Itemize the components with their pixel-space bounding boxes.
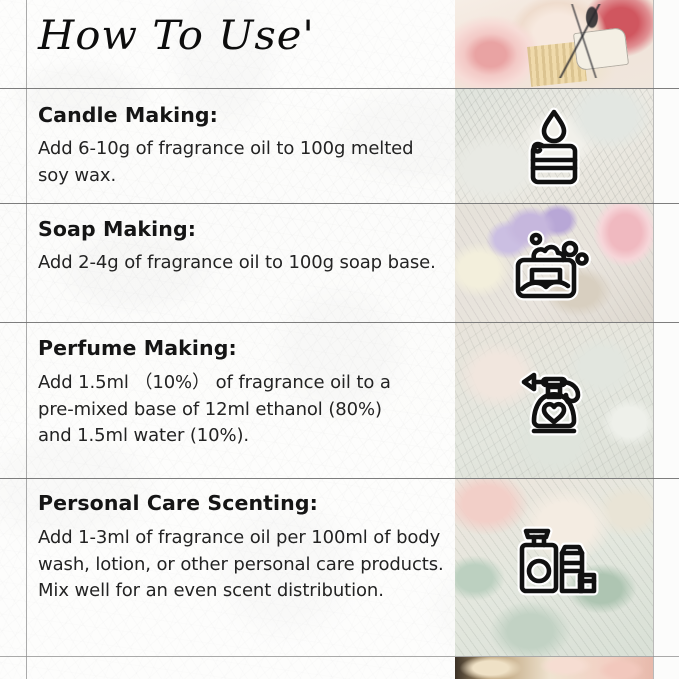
section-body: Add 1.5ml （10%） of fragrance oil to a pr… bbox=[38, 370, 418, 450]
section-body: Add 1-3ml of fragrance oil per 100ml of … bbox=[38, 525, 450, 605]
top-photo-band-rose-dragonfly bbox=[455, 0, 653, 88]
divider-after-title bbox=[0, 88, 679, 89]
image-tile-candle bbox=[455, 89, 653, 203]
divider-after-perfume bbox=[0, 478, 679, 479]
image-tile-soap bbox=[455, 204, 653, 322]
image-tile-perfume bbox=[455, 323, 653, 478]
page-title: How To Use' bbox=[38, 13, 315, 59]
right-gutter bbox=[653, 0, 679, 679]
section-heading: Soap Making: bbox=[38, 217, 455, 241]
divider-after-personal-care bbox=[0, 656, 679, 657]
content-column: How To Use' Candle Making: Add 6-10g of … bbox=[26, 0, 455, 679]
perfume-bottle-icon bbox=[508, 355, 600, 443]
dragonfly-decor bbox=[551, 4, 617, 78]
personal-care-products-icon bbox=[508, 513, 600, 601]
how-to-use-infographic: How To Use' Candle Making: Add 6-10g of … bbox=[0, 0, 679, 679]
title-row: How To Use' bbox=[26, 0, 455, 88]
imagery-column bbox=[455, 0, 653, 679]
section-soap-making: Soap Making: Add 2-4g of fragrance oil t… bbox=[26, 204, 455, 322]
section-heading: Perfume Making: bbox=[38, 336, 455, 360]
section-heading: Personal Care Scenting: bbox=[38, 491, 455, 515]
section-body: Add 2-4g of fragrance oil to 100g soap b… bbox=[38, 250, 438, 277]
section-body: Add 6-10g of fragrance oil to 100g melte… bbox=[38, 136, 438, 189]
divider-after-soap bbox=[0, 322, 679, 323]
bottom-photo-band bbox=[455, 657, 653, 679]
image-tile-personal-care bbox=[455, 479, 653, 656]
section-personal-care-scenting: Personal Care Scenting: Add 1-3ml of fra… bbox=[26, 479, 455, 656]
divider-after-candle bbox=[0, 203, 679, 204]
section-candle-making: Candle Making: Add 6-10g of fragrance oi… bbox=[26, 89, 455, 203]
section-perfume-making: Perfume Making: Add 1.5ml （10%） of fragr… bbox=[26, 323, 455, 478]
right-vertical-rule bbox=[653, 0, 654, 679]
section-heading: Candle Making: bbox=[38, 103, 455, 127]
soap-bar-icon bbox=[508, 224, 600, 306]
candle-icon bbox=[511, 105, 597, 189]
